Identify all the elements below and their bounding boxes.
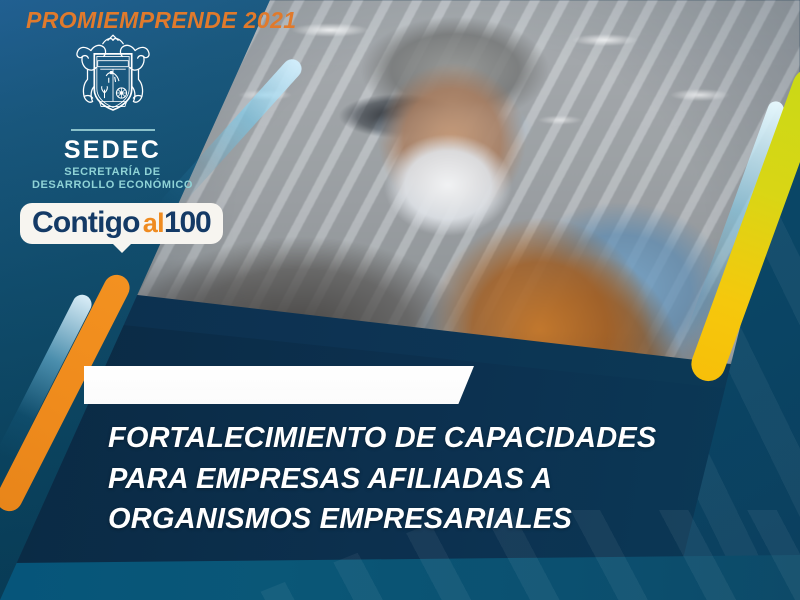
sedec-acronym: SEDEC	[20, 138, 205, 163]
promo-poster: SEDEC SECRETARÍA DE DESARROLLO ECONÓMICO…	[0, 0, 800, 600]
title-line-2: PARA EMPRESAS AFILIADAS A	[108, 459, 708, 500]
badge-word-al: al	[143, 208, 164, 238]
sedec-subtitle-line1: SECRETARÍA DE	[20, 166, 205, 179]
contigo-al-100-badge: Contigoal100	[20, 203, 223, 244]
program-banner	[84, 366, 474, 404]
crest-divider-rule	[71, 129, 155, 131]
title-line-1: FORTALECIMIENTO DE CAPACIDADES	[108, 418, 708, 459]
guanajuato-coat-of-arms-icon	[62, 28, 164, 124]
sedec-subtitle-line2: DESARROLLO ECONÓMICO	[20, 179, 205, 192]
title-line-3: ORGANISMOS EMPRESARIALES	[108, 499, 708, 540]
badge-word-100: 100	[164, 206, 210, 239]
poster-title: FORTALECIMIENTO DE CAPACIDADES PARA EMPR…	[108, 418, 708, 540]
badge-word-contigo: Contigo	[32, 206, 140, 239]
sedec-logo-block: SEDEC SECRETARÍA DE DESARROLLO ECONÓMICO…	[20, 28, 205, 244]
contigo-badge-wrapper: Contigoal100	[20, 203, 205, 244]
